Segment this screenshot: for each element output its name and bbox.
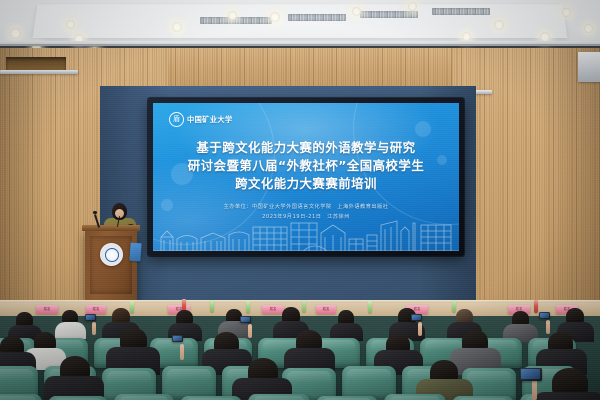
raised-arm [546, 320, 550, 334]
smartphone [411, 314, 422, 321]
emblem-glyph: 盾 [173, 116, 180, 123]
downlight [66, 20, 75, 29]
smartphone [85, 314, 96, 321]
hvac-vent [432, 8, 490, 15]
downlight [270, 12, 280, 22]
smartphone [520, 368, 542, 381]
wall-rail [0, 70, 78, 74]
raised-arm [180, 344, 184, 360]
slide-organizer-line: 主办单位：中国矿业大学外国语言文化学院 上海外语教育出版社 [153, 203, 459, 210]
downlight [584, 24, 593, 33]
name-placard: 姓名 [36, 305, 58, 314]
phone-screen [86, 315, 95, 320]
university-logo: 盾 中国矿业大学 [169, 112, 233, 127]
downlight [408, 2, 417, 11]
water-bottle [302, 300, 306, 312]
downlight [228, 11, 237, 20]
slide-title-line-3: 跨文化能力大赛赛前培训 [153, 174, 459, 192]
auditorium-seat [316, 396, 378, 400]
auditorium-seat [248, 394, 310, 400]
lecture-hall-photo: 盾 中国矿业大学 基于跨文化能力大赛的外语教学与研究 研讨会暨第八届“外教社杯”… [0, 0, 600, 400]
microphone-head [93, 211, 97, 214]
phone-screen [173, 336, 182, 341]
downlight [10, 28, 21, 39]
smartphone [539, 312, 550, 319]
auditorium-seat [0, 394, 42, 400]
water-bottle [130, 301, 134, 313]
podium-top-surface [82, 225, 140, 231]
downlight [494, 20, 504, 30]
podium-seal-inner [105, 248, 119, 262]
university-emblem-icon: 盾 [169, 112, 184, 127]
auditorium-seat [114, 394, 174, 400]
slide-title-line-1: 基于跨文化能力大赛的外语教学与研究 [153, 138, 459, 156]
water-bottle [210, 300, 214, 312]
raised-arm [532, 378, 537, 400]
thermos-bottle [534, 300, 538, 313]
university-logo-text: 中国矿业大学 [187, 115, 233, 125]
downlight [462, 32, 471, 41]
phone-screen [412, 315, 421, 320]
name-placard: 姓名 [86, 305, 106, 314]
phone-screen [521, 369, 540, 379]
phone-screen [540, 313, 549, 318]
smartphone [172, 335, 183, 342]
audience-member [534, 392, 600, 400]
campus-skyline-graphic [153, 211, 459, 251]
podium-seal-icon [100, 243, 123, 266]
auditorium-seat [48, 396, 108, 400]
ceiling [0, 0, 600, 46]
raised-arm [248, 324, 252, 338]
hvac-vent [360, 11, 418, 18]
smartphone [240, 316, 251, 323]
raised-arm [92, 322, 96, 335]
downlight [352, 7, 361, 16]
hvac-vent [288, 14, 346, 21]
wall-shadow-left [0, 48, 46, 303]
slide-title-line-2: 研讨会暨第八届“外教社杯”全国高校学生 [153, 156, 459, 174]
audience-member [55, 322, 86, 339]
water-bottle [368, 301, 372, 313]
name-placard: 姓名 [316, 305, 336, 314]
wall-rail [578, 52, 600, 82]
name-placard: 姓名 [262, 305, 284, 314]
raised-arm [418, 322, 422, 336]
auditorium-seat [180, 396, 242, 400]
presentation-screen: 盾 中国矿业大学 基于跨文化能力大赛的外语教学与研究 研讨会暨第八届“外教社杯”… [153, 103, 459, 251]
presentation-screen-bezel: 盾 中国矿业大学 基于跨文化能力大赛的外语教学与研究 研讨会暨第八届“外教社杯”… [148, 98, 464, 256]
downlight [172, 22, 182, 32]
speaker-document [129, 243, 141, 262]
water-bottle [452, 300, 456, 312]
auditorium-seat [384, 394, 446, 400]
water-bottle [246, 301, 250, 313]
audience-area [0, 316, 600, 400]
wall-shadow-right [540, 48, 600, 316]
downlight [562, 8, 571, 17]
phone-screen [241, 317, 250, 322]
auditorium-seat [452, 396, 514, 400]
